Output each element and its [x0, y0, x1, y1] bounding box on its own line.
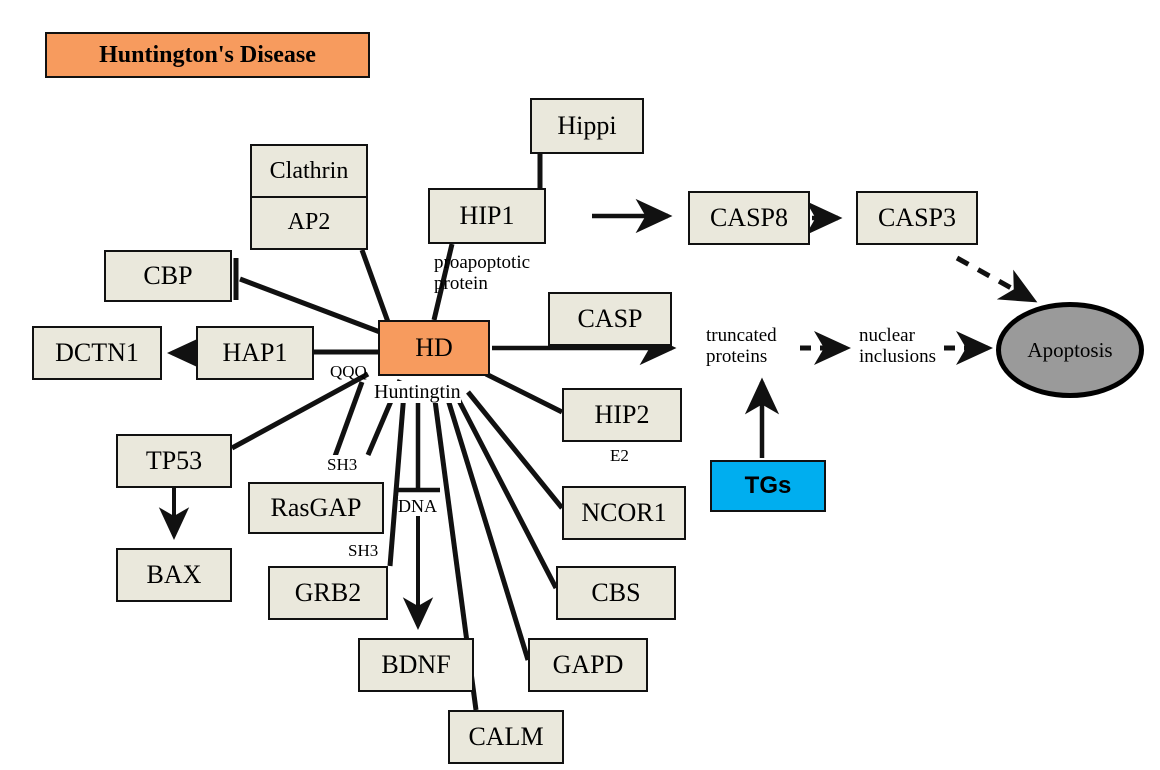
node-dctn1-label: DCTN1	[55, 340, 139, 366]
node-hd[interactable]: HD	[378, 320, 490, 376]
edge-casp3-to-apoptosis	[957, 258, 1033, 300]
node-cbs[interactable]: CBS	[556, 566, 676, 620]
node-gapd[interactable]: GAPD	[528, 638, 648, 692]
node-tp53[interactable]: TP53	[116, 434, 232, 488]
node-bax[interactable]: BAX	[116, 548, 232, 602]
label-sh3-grb2: SH3	[348, 541, 378, 560]
node-gapd-label: GAPD	[553, 652, 624, 678]
node-hap1[interactable]: HAP1	[196, 326, 314, 380]
node-ncor1-label: NCOR1	[581, 500, 666, 526]
node-ap2[interactable]: AP2	[252, 198, 366, 247]
label-proapoptotic-protein: proapoptotic protein	[434, 252, 530, 295]
node-ap2-label: AP2	[288, 209, 331, 236]
node-hip1-label: HIP1	[460, 203, 515, 229]
node-grb2-label: GRB2	[295, 580, 361, 606]
label-huntingtin-hub: Huntingtin	[374, 381, 461, 403]
node-cbp[interactable]: CBP	[104, 250, 232, 302]
node-cbp-label: CBP	[143, 263, 192, 289]
disease-title-label: Huntington's Disease	[99, 42, 316, 69]
edge-huntingtin-to-gapd	[446, 393, 528, 660]
node-casp8[interactable]: CASP8	[688, 191, 810, 245]
edge-hd-to-clathrin-ap2	[362, 250, 388, 322]
node-clathrin-label: Clathrin	[270, 158, 349, 185]
node-hip1[interactable]: HIP1	[428, 188, 546, 244]
node-rasgap-label: RasGAP	[270, 495, 361, 521]
node-hippi-label: Hippi	[557, 113, 616, 139]
node-tgs-label: TGs	[745, 474, 792, 498]
node-bdnf[interactable]: BDNF	[358, 638, 474, 692]
node-casp[interactable]: CASP	[548, 292, 672, 346]
edge-hd-to-hip2	[486, 374, 562, 412]
node-clathrin-ap2[interactable]: Clathrin AP2	[250, 144, 368, 250]
node-hd-label: HD	[415, 335, 453, 361]
label-dna: DNA	[398, 496, 437, 516]
node-tgs[interactable]: TGs	[710, 460, 826, 512]
node-hippi[interactable]: Hippi	[530, 98, 644, 154]
node-rasgap[interactable]: RasGAP	[248, 482, 384, 534]
node-casp3[interactable]: CASP3	[856, 191, 978, 245]
edge-hd-to-cbp	[240, 279, 380, 332]
node-apoptosis[interactable]: Apoptosis	[996, 302, 1144, 398]
disease-title-banner: Huntington's Disease	[45, 32, 370, 78]
node-tp53-label: TP53	[146, 448, 202, 474]
label-truncated-proteins: truncated proteins	[706, 325, 777, 368]
edge-huntingtin-to-tp53	[232, 374, 368, 448]
node-casp8-label: CASP8	[710, 205, 788, 231]
node-calm[interactable]: CALM	[448, 710, 564, 764]
node-casp-label: CASP	[577, 306, 642, 332]
edge-huntingtin-to-grb2	[390, 393, 404, 566]
label-e2: E2	[610, 446, 629, 465]
edge-huntingtin-to-cbs	[455, 393, 556, 588]
edge-huntingtin-to-ncor1	[468, 392, 562, 508]
node-calm-label: CALM	[468, 724, 543, 750]
node-clathrin[interactable]: Clathrin	[252, 146, 366, 198]
node-hip2[interactable]: HIP2	[562, 388, 682, 442]
label-nuclear-inclusions: nuclear inclusions	[859, 325, 936, 368]
node-bdnf-label: BDNF	[381, 652, 450, 678]
node-dctn1[interactable]: DCTN1	[32, 326, 162, 380]
label-sh3-rasgap: SH3	[327, 455, 357, 474]
node-hip2-label: HIP2	[595, 402, 650, 428]
node-ncor1[interactable]: NCOR1	[562, 486, 686, 540]
node-grb2[interactable]: GRB2	[268, 566, 388, 620]
node-bax-label: BAX	[147, 562, 202, 588]
node-hap1-label: HAP1	[222, 340, 287, 366]
node-cbs-label: CBS	[591, 580, 640, 606]
label-qqq: QQQ	[330, 362, 367, 381]
node-casp3-label: CASP3	[878, 205, 956, 231]
pathway-diagram-canvas: Huntington's Disease Clathrin AP2 HD CBP…	[0, 0, 1160, 770]
node-apoptosis-label: Apoptosis	[1027, 338, 1112, 363]
